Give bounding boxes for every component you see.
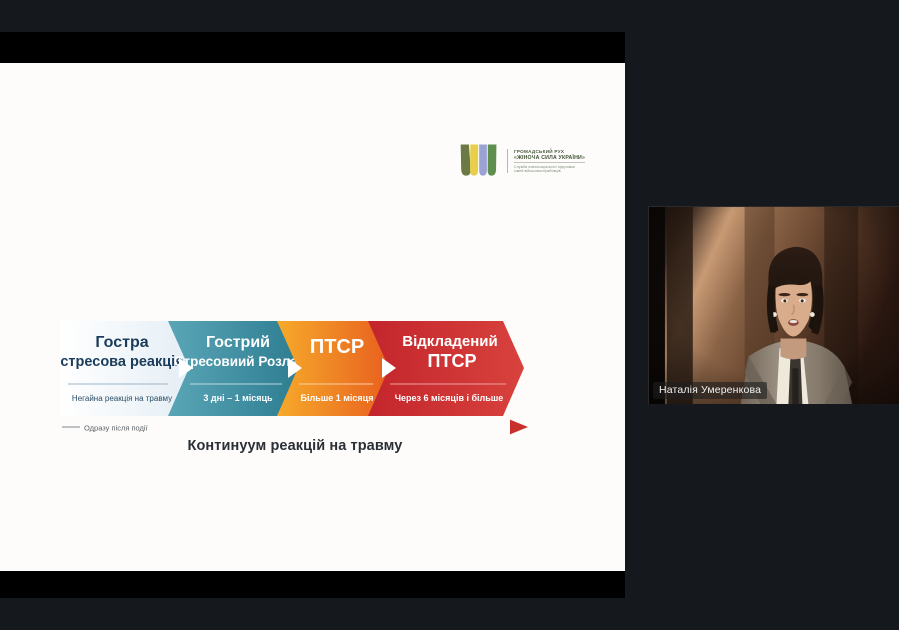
logo-wordmark: ГРОМАДСЬКИЙ РУХ «ЖІНОЧА СИЛА УКРАЇНИ» Сл…: [507, 149, 585, 173]
video-frame: [649, 207, 899, 404]
stage-chevrons: Гостра стресова реакція Негайна реакція …: [60, 321, 545, 416]
stage-1-title-line1: Гостра: [95, 334, 148, 351]
presentation-slide: ГРОМАДСЬКИЙ РУХ «ЖІНОЧА СИЛА УКРАЇНИ» Сл…: [0, 63, 625, 571]
logo-line-1: ГРОМАДСЬКИЙ РУХ: [514, 149, 585, 154]
stage-3-chevron: ПТСР Більше 1 місяця: [277, 321, 391, 416]
stage-3-subtitle: Більше 1 місяця: [301, 393, 374, 403]
logo-line-4: сімей військовослужбовців: [514, 169, 585, 173]
trauma-continuum-infographic: Гостра стресова реакція Негайна реакція …: [60, 321, 545, 471]
logo-mark-icon: [457, 139, 501, 183]
stage-2-subtitle: 3 дні – 1 місяць: [203, 393, 273, 403]
logo-line-2: «ЖІНОЧА СИЛА УКРАЇНИ»: [514, 155, 585, 161]
participant-video-tile[interactable]: Наталія Умеренкова: [648, 206, 899, 404]
participant-name-badge: Наталія Умеренкова: [653, 382, 767, 399]
stage-1-chevron: Гостра стресова реакція Негайна реакція …: [60, 321, 191, 416]
logo-divider: [514, 162, 585, 163]
stage-4-title-line1: Відкладений: [402, 333, 497, 350]
stage-4-chevron: Відкладений ПТСР Через 6 місяців і більш…: [368, 321, 524, 416]
stage-4-title-line2: ПТСР: [428, 351, 477, 371]
stage-2-title-line2: Стресовиий Розлад: [174, 354, 307, 369]
stage-4-subtitle: Через 6 місяців і більше: [395, 393, 504, 403]
stage-2-title-line1: Гострий: [206, 334, 270, 351]
organization-logo: ГРОМАДСЬКИЙ РУХ «ЖІНОЧА СИЛА УКРАЇНИ» Сл…: [457, 139, 585, 183]
stage-3-title-line1: ПТСР: [310, 336, 364, 358]
timeline-start-label: Одразу після події: [84, 424, 149, 433]
infographic-caption: Континуум реакцій на травму: [60, 438, 530, 454]
stage-1-subtitle: Негайна реакція на травму: [72, 394, 172, 403]
stage-1-title-line2: стресова реакція: [60, 354, 183, 370]
meeting-window: ГРОМАДСЬКИЙ РУХ «ЖІНОЧА СИЛА УКРАЇНИ» Сл…: [0, 0, 899, 630]
